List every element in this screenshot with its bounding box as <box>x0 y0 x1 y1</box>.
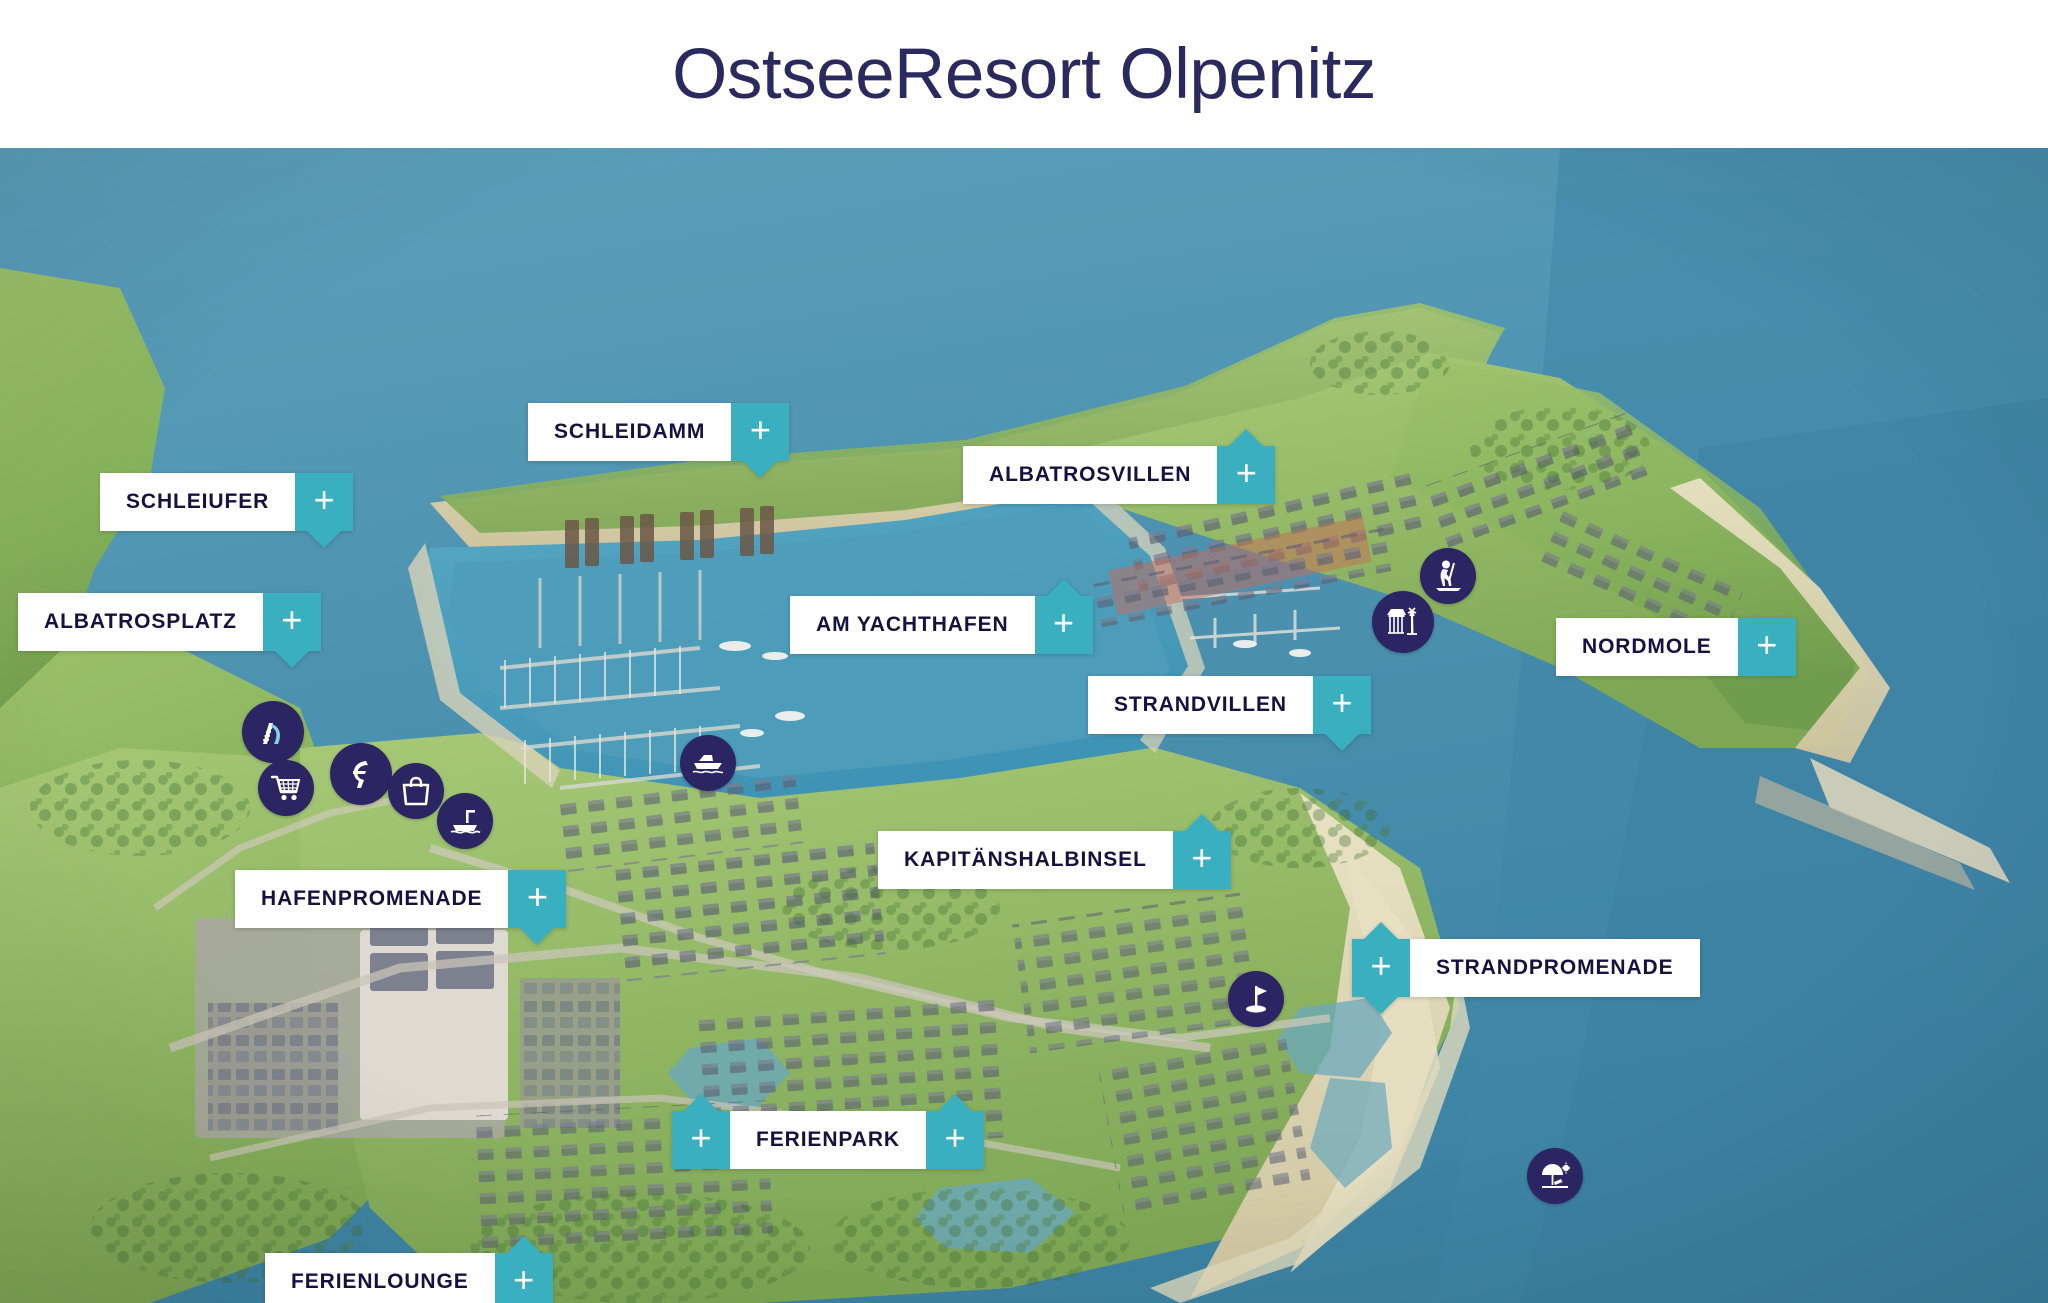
hotspot-label-ferienlounge: FERIENLOUNGE <box>265 1253 495 1303</box>
hotspot-label-strandpromenade: STRANDPROMENADE <box>1410 939 1700 997</box>
market-stall-icon[interactable] <box>1372 591 1434 653</box>
plus-glyph: + <box>1191 840 1212 876</box>
hotspot-strandpromenade[interactable]: + STRANDPROMENADE <box>1352 939 1700 997</box>
hotspot-albatrosplatz[interactable]: ALBATROSPLATZ + <box>18 593 321 651</box>
plus-glyph: + <box>1331 685 1352 721</box>
wave-f-icon[interactable] <box>330 743 392 805</box>
paddleboard-icon[interactable] <box>1420 548 1476 604</box>
plus-button-ferienpark-left[interactable]: + <box>672 1111 730 1169</box>
hotspot-label-albatrosplatz: ALBATROSPLATZ <box>18 593 263 651</box>
plus-glyph: + <box>1370 948 1391 984</box>
golf-flag-icon[interactable] <box>1228 971 1284 1027</box>
plus-button-schleidamm[interactable]: + <box>731 403 789 461</box>
plus-button-kapitaenshalbinsel[interactable]: + <box>1173 831 1231 889</box>
hotspot-label-schleidamm: SCHLEIDAMM <box>528 403 731 461</box>
plus-glyph: + <box>750 412 771 448</box>
boat-dock-icon[interactable] <box>437 793 493 849</box>
hotspot-schleidamm[interactable]: SCHLEIDAMM + <box>528 403 789 461</box>
plus-button-hafenpromenade[interactable]: + <box>508 870 566 928</box>
water-slide-icon[interactable] <box>242 701 304 763</box>
plus-button-albatrosvillen[interactable]: + <box>1217 446 1275 504</box>
hotspot-label-am-yachthafen: AM YACHTHAFEN <box>790 596 1035 654</box>
shopping-cart-icon[interactable] <box>258 760 314 816</box>
hotspot-ferienpark[interactable]: + FERIENPARK + <box>672 1111 984 1169</box>
plus-glyph: + <box>527 879 548 915</box>
plus-glyph: + <box>314 482 335 518</box>
beach-umbrella-icon[interactable] <box>1527 1148 1583 1204</box>
shopping-bag-icon[interactable] <box>388 763 444 819</box>
resort-map-page: OstseeResort Olpenitz <box>0 0 2048 1303</box>
hotspot-kapitaenshalbinsel[interactable]: KAPITÄNSHALBINSEL + <box>878 831 1231 889</box>
hotspot-label-albatrosvillen: ALBATROSVILLEN <box>963 446 1217 504</box>
hotspot-schleiufer[interactable]: SCHLEIUFER + <box>100 473 353 531</box>
hotspot-label-schleiufer: SCHLEIUFER <box>100 473 295 531</box>
plus-glyph: + <box>690 1120 711 1156</box>
plus-glyph: + <box>1756 627 1777 663</box>
hotspot-label-nordmole: NORDMOLE <box>1556 618 1738 676</box>
hotspot-label-ferienpark: FERIENPARK <box>730 1111 926 1169</box>
plus-button-nordmole[interactable]: + <box>1738 618 1796 676</box>
map-canvas[interactable]: SCHLEIDAMM + SCHLEIUFER + ALBATROSVILLEN… <box>0 148 2048 1303</box>
page-title: OstseeResort Olpenitz <box>672 34 1376 115</box>
hotspot-label-strandvillen: STRANDVILLEN <box>1088 676 1313 734</box>
hotspot-label-kapitaenshalbinsel: KAPITÄNSHALBINSEL <box>878 831 1173 889</box>
plus-button-ferienpark-right[interactable]: + <box>926 1111 984 1169</box>
plus-button-schleiufer[interactable]: + <box>295 473 353 531</box>
plus-glyph: + <box>513 1262 534 1298</box>
plus-button-strandvillen[interactable]: + <box>1313 676 1371 734</box>
plus-glyph: + <box>1236 455 1257 491</box>
hotspot-label-hafenpromenade: HAFENPROMENADE <box>235 870 508 928</box>
motorboat-icon[interactable] <box>680 735 736 791</box>
plus-glyph: + <box>281 602 302 638</box>
plus-button-am-yachthafen[interactable]: + <box>1035 596 1093 654</box>
hotspot-hafenpromenade[interactable]: HAFENPROMENADE + <box>235 870 566 928</box>
plus-button-ferienlounge[interactable]: + <box>495 1253 553 1303</box>
plus-glyph: + <box>1053 605 1074 641</box>
plus-glyph: + <box>944 1120 965 1156</box>
hotspot-nordmole[interactable]: NORDMOLE + <box>1556 618 1796 676</box>
hotspot-am-yachthafen[interactable]: AM YACHTHAFEN + <box>790 596 1093 654</box>
hotspot-strandvillen[interactable]: STRANDVILLEN + <box>1088 676 1371 734</box>
hotspot-ferienlounge[interactable]: FERIENLOUNGE + <box>265 1253 553 1303</box>
hotspot-albatrosvillen[interactable]: ALBATROSVILLEN + <box>963 446 1275 504</box>
plus-button-strandpromenade[interactable]: + <box>1352 939 1410 997</box>
plus-button-albatrosplatz[interactable]: + <box>263 593 321 651</box>
title-bar: OstseeResort Olpenitz <box>0 0 2048 148</box>
aerial-map-image <box>0 148 2048 1303</box>
